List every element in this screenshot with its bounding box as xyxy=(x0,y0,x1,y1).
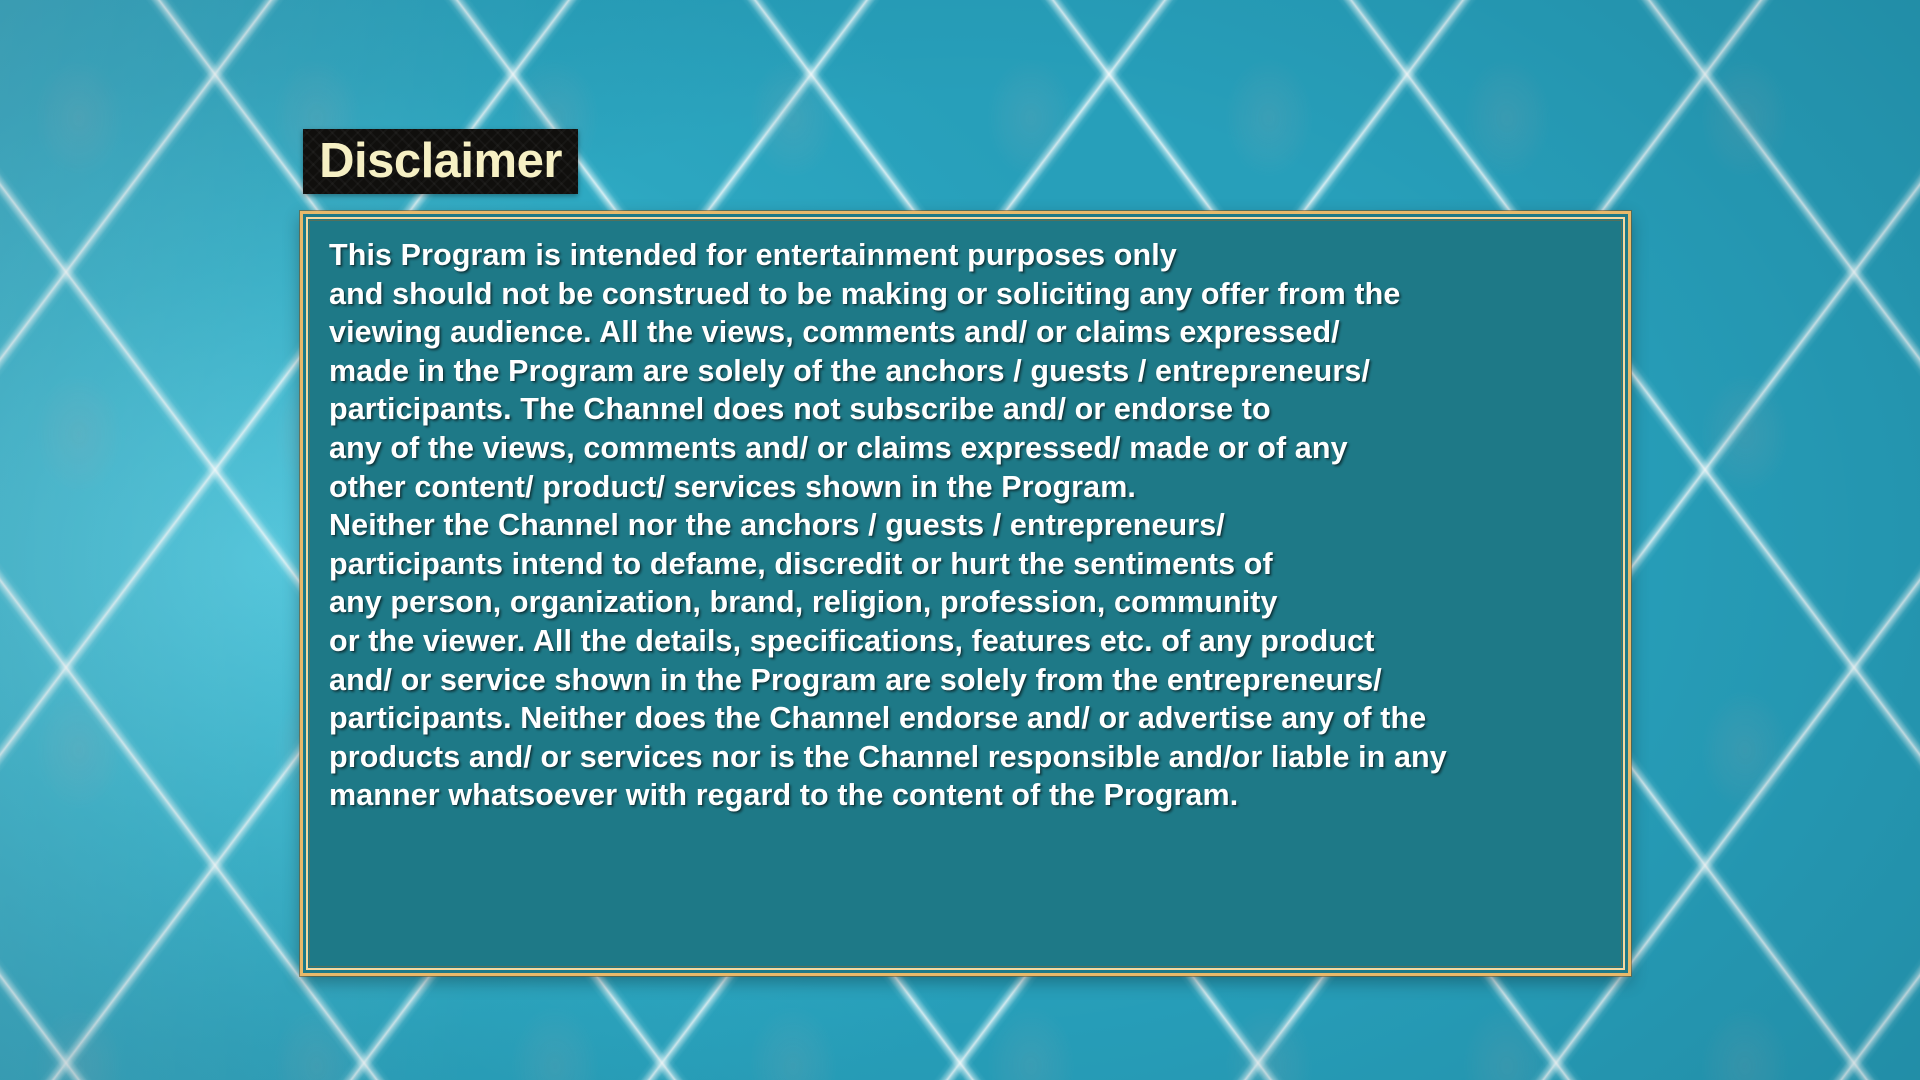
disclaimer-line: viewing audience. All the views, comment… xyxy=(329,313,1610,352)
page-title: Disclaimer xyxy=(319,137,562,186)
disclaimer-line: participants intend to defame, discredit… xyxy=(329,545,1610,584)
disclaimer-line: Neither the Channel nor the anchors / gu… xyxy=(329,506,1610,545)
disclaimer-line: participants. Neither does the Channel e… xyxy=(329,699,1610,738)
disclaimer-line: any of the views, comments and/ or claim… xyxy=(329,429,1610,468)
disclaimer-line: This Program is intended for entertainme… xyxy=(329,236,1610,275)
disclaimer-line: and/ or service shown in the Program are… xyxy=(329,661,1610,700)
disclaimer-text-body: This Program is intended for entertainme… xyxy=(329,236,1610,955)
disclaimer-panel: This Program is intended for entertainme… xyxy=(300,211,1631,976)
disclaimer-line: and should not be construed to be making… xyxy=(329,275,1610,314)
disclaimer-line: manner whatsoever with regard to the con… xyxy=(329,776,1610,815)
disclaimer-line: or the viewer. All the details, specific… xyxy=(329,622,1610,661)
disclaimer-line: participants. The Channel does not subsc… xyxy=(329,390,1610,429)
disclaimer-line: products and/ or services nor is the Cha… xyxy=(329,738,1610,777)
disclaimer-title-box: Disclaimer xyxy=(303,129,578,194)
disclaimer-line: made in the Program are solely of the an… xyxy=(329,352,1610,391)
disclaimer-slide: Disclaimer This Program is intended for … xyxy=(0,0,1920,1080)
disclaimer-line: any person, organization, brand, religio… xyxy=(329,583,1610,622)
disclaimer-line: other content/ product/ services shown i… xyxy=(329,468,1610,507)
